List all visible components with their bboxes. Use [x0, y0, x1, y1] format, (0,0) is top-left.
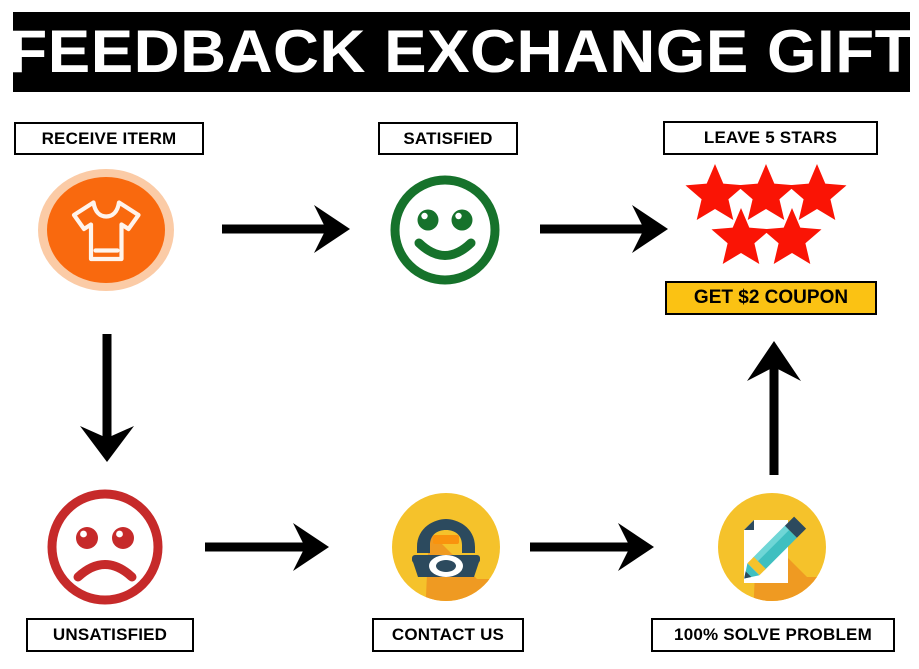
arrow-unsatisfied-to-contact-icon [205, 519, 335, 575]
title-banner: FEEDBACK EXCHANGE GIFT [13, 12, 910, 92]
arrow-satisfied-to-stars-icon [540, 201, 675, 257]
label-unsatisfied: UNSATISFIED [26, 618, 194, 652]
sad-face-icon [40, 484, 170, 610]
label-solve-problem-text: 100% SOLVE PROBLEM [674, 625, 872, 645]
label-contact-us: CONTACT US [372, 618, 524, 652]
infographic-canvas: FEEDBACK EXCHANGE GIFT RECEIVE ITERM SAT… [0, 0, 919, 669]
arrow-contact-to-solve-icon [530, 519, 660, 575]
label-leave-5-stars: LEAVE 5 STARS [663, 121, 878, 155]
five-stars-icon [671, 162, 875, 272]
telephone-icon [385, 487, 507, 607]
arrow-receive-to-unsatisfied-icon [68, 334, 146, 464]
label-receive-item-text: RECEIVE ITERM [42, 129, 177, 149]
arrow-receive-to-satisfied-icon [222, 201, 357, 257]
get-coupon-button[interactable]: GET $2 COUPON [665, 281, 877, 315]
document-pencil-icon [711, 487, 833, 607]
arrow-solve-to-coupon-icon [735, 333, 813, 475]
get-coupon-label: GET $2 COUPON [694, 287, 848, 309]
label-receive-item: RECEIVE ITERM [14, 122, 204, 155]
tshirt-icon [36, 167, 176, 293]
label-contact-us-text: CONTACT US [392, 625, 504, 645]
label-satisfied-text: SATISFIED [403, 129, 492, 149]
page-title: FEEDBACK EXCHANGE GIFT [9, 22, 915, 82]
label-unsatisfied-text: UNSATISFIED [53, 625, 167, 645]
happy-face-icon [383, 170, 507, 290]
label-leave-5-stars-text: LEAVE 5 STARS [704, 128, 837, 148]
label-solve-problem: 100% SOLVE PROBLEM [651, 618, 895, 652]
label-satisfied: SATISFIED [378, 122, 518, 155]
